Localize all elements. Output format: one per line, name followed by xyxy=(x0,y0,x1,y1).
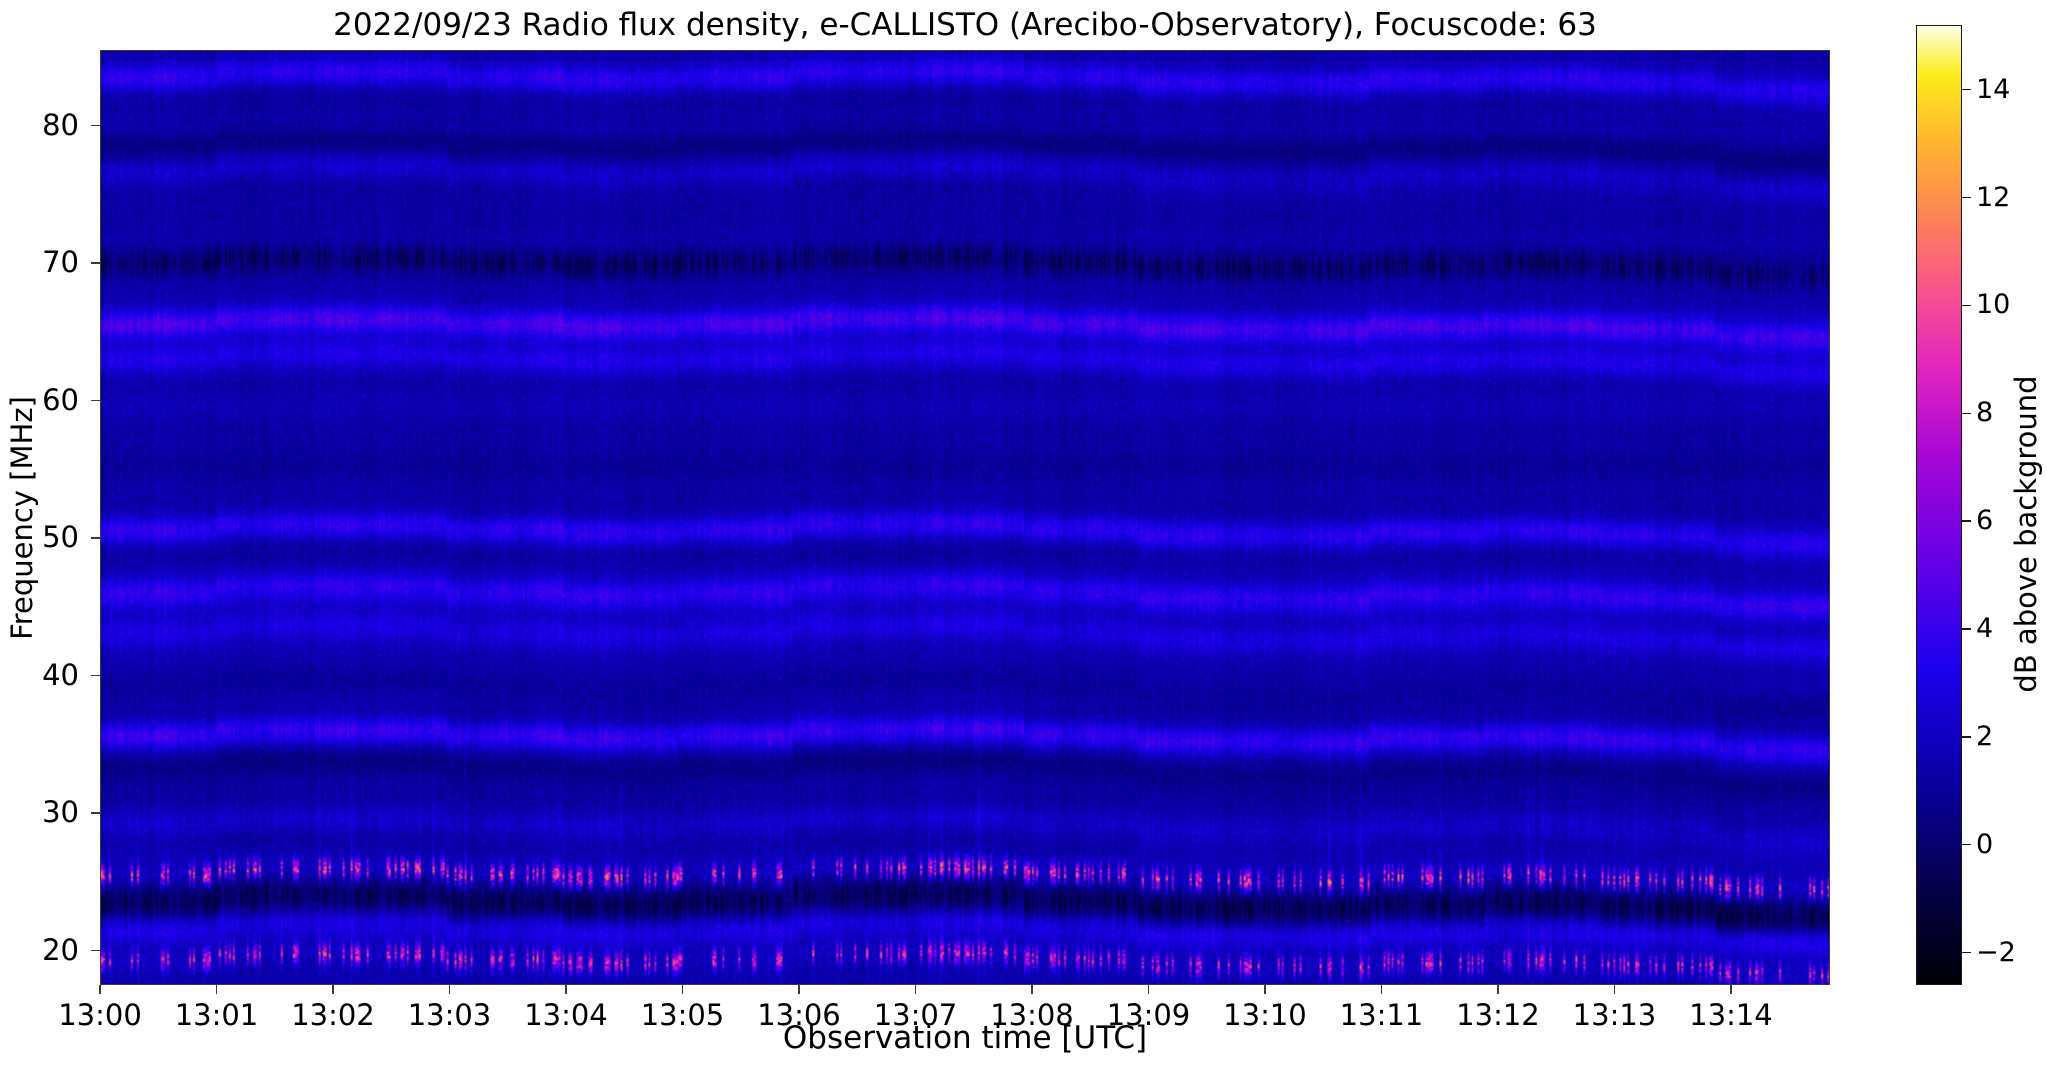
colorbar-tick-mark xyxy=(1962,952,1971,953)
colorbar[interactable] xyxy=(1916,25,1962,985)
x-tick-mark xyxy=(216,985,217,994)
colorbar-tick-mark xyxy=(1962,736,1971,737)
colorbar-gradient xyxy=(1917,26,1961,984)
x-axis-label: Observation time [UTC] xyxy=(100,1020,1830,1056)
y-tick-label: 80 xyxy=(23,111,79,140)
y-tick-mark xyxy=(91,950,100,951)
y-tick-label: 20 xyxy=(23,936,79,965)
colorbar-label: dB above background xyxy=(2009,375,2043,692)
x-tick-mark xyxy=(682,985,683,994)
colorbar-tick-label: 12 xyxy=(1976,184,2010,211)
colorbar-tick-label: 8 xyxy=(1976,399,1993,426)
colorbar-tick-mark xyxy=(1962,628,1971,629)
spectrogram-image xyxy=(101,51,1829,984)
y-tick-mark xyxy=(91,125,100,126)
colorbar-tick-label: 14 xyxy=(1976,76,2010,103)
y-tick-mark xyxy=(91,675,100,676)
figure-canvas: 2022/09/23 Radio flux density, e-CALLIST… xyxy=(0,0,2047,1067)
y-tick-label: 60 xyxy=(23,386,79,415)
x-tick-mark xyxy=(1148,985,1149,994)
y-tick-mark xyxy=(91,812,100,813)
y-axis-label-wrap: Frequency [MHz] xyxy=(30,50,32,985)
colorbar-tick-label: 0 xyxy=(1976,831,1993,858)
x-tick-mark xyxy=(1497,985,1498,994)
colorbar-tick-mark xyxy=(1962,520,1971,521)
y-tick-mark xyxy=(91,262,100,263)
colorbar-tick-label: −2 xyxy=(1976,939,2016,966)
y-tick-mark xyxy=(91,400,100,401)
x-tick-mark xyxy=(565,985,566,994)
spectrogram-axes[interactable] xyxy=(100,50,1830,985)
colorbar-tick-label: 2 xyxy=(1976,723,1993,750)
colorbar-tick-mark xyxy=(1962,413,1971,414)
x-tick-mark xyxy=(798,985,799,994)
y-tick-mark xyxy=(91,537,100,538)
colorbar-tick-mark xyxy=(1962,89,1971,90)
chart-title: 2022/09/23 Radio flux density, e-CALLIST… xyxy=(100,6,1830,44)
colorbar-tick-label: 6 xyxy=(1976,507,1993,534)
x-tick-mark xyxy=(99,985,100,994)
y-tick-label: 40 xyxy=(23,661,79,690)
colorbar-tick-mark xyxy=(1962,305,1971,306)
x-tick-mark xyxy=(1614,985,1615,994)
x-tick-mark xyxy=(1381,985,1382,994)
y-tick-label: 30 xyxy=(23,798,79,827)
colorbar-tick-label: 10 xyxy=(1976,291,2010,318)
colorbar-tick-label: 4 xyxy=(1976,615,1993,642)
y-tick-label: 70 xyxy=(23,248,79,277)
x-tick-mark xyxy=(915,985,916,994)
colorbar-tick-mark xyxy=(1962,844,1971,845)
x-tick-mark xyxy=(449,985,450,994)
x-tick-mark xyxy=(1264,985,1265,994)
x-tick-mark xyxy=(1031,985,1032,994)
x-tick-mark xyxy=(1730,985,1731,994)
colorbar-tick-mark xyxy=(1962,197,1971,198)
y-axis-label: Frequency [MHz] xyxy=(5,396,39,640)
x-tick-mark xyxy=(332,985,333,994)
y-tick-label: 50 xyxy=(23,523,79,552)
